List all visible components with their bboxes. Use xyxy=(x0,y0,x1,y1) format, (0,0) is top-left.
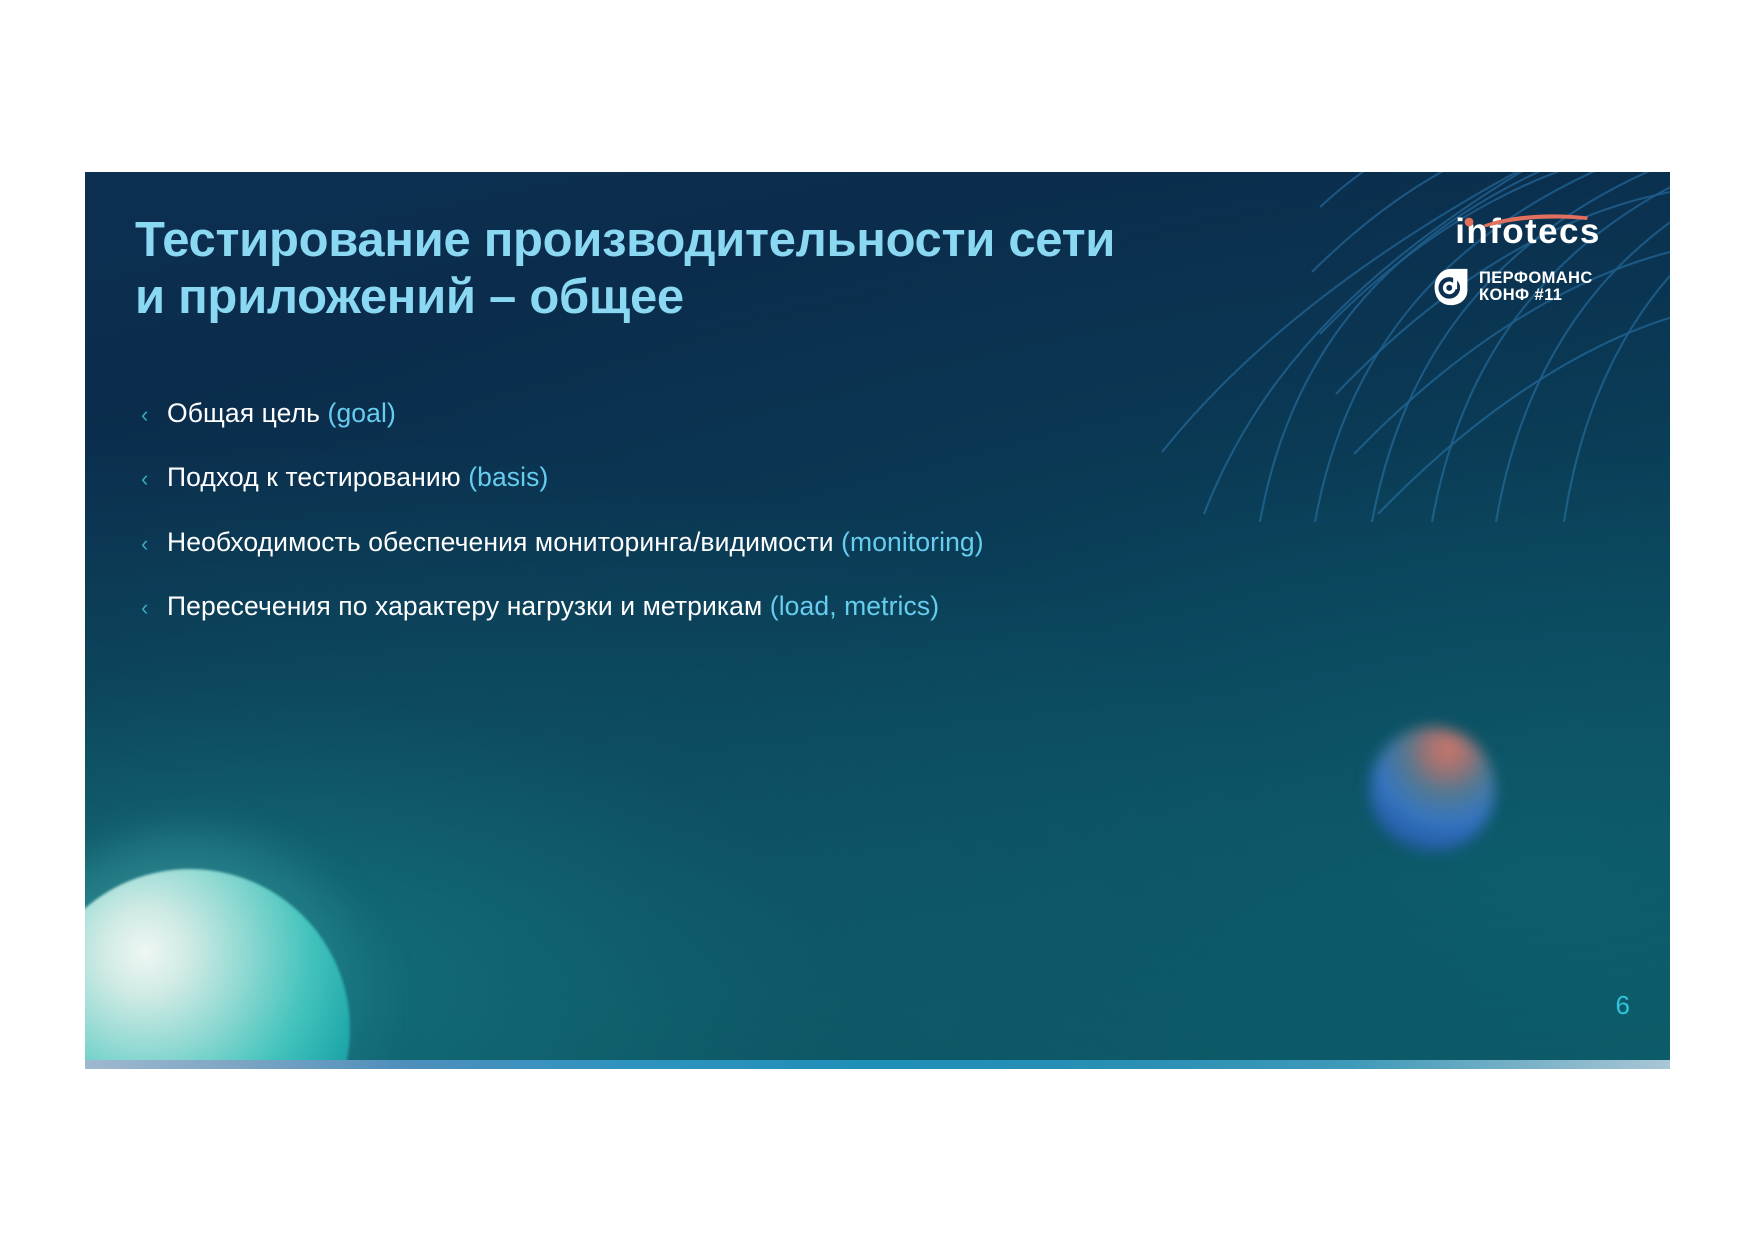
list-item: ‹ Подход к тестированию (basis) xyxy=(137,461,1437,493)
bullet-text-en: (goal) xyxy=(328,398,396,428)
bullet-text-en: (basis) xyxy=(468,462,548,492)
list-item: ‹ Общая цель (goal) xyxy=(137,397,1437,429)
page-title: Тестирование производительности сети и п… xyxy=(135,212,1195,327)
decorative-sphere-blue xyxy=(1370,727,1495,852)
conf-line-2: КОНФ #11 xyxy=(1479,287,1593,304)
list-item: ‹ Пересечения по характеру нагрузки и ме… xyxy=(137,590,1437,622)
performance-conf-mark-icon xyxy=(1432,268,1470,306)
list-item: ‹ Необходимость обеспечения мониторинга/… xyxy=(137,526,1437,558)
title-line-1: Тестирование производительности сети xyxy=(135,212,1195,269)
bottom-accent-bar xyxy=(85,1060,1670,1069)
chevron-left-icon: ‹ xyxy=(137,468,167,490)
bullet-list: ‹ Общая цель (goal) ‹ Подход к тестирова… xyxy=(137,397,1437,654)
chevron-left-icon: ‹ xyxy=(137,404,167,426)
bullet-text-ru: Общая цель xyxy=(167,398,328,428)
performance-conf-text: ПЕРФОМАНС КОНФ #11 xyxy=(1479,270,1593,304)
bullet-text-ru: Необходимость обеспечения мониторинга/ви… xyxy=(167,527,841,557)
bullet-text: Пересечения по характеру нагрузки и метр… xyxy=(167,590,939,622)
bullet-text-en: (monitoring) xyxy=(841,527,984,557)
page-number: 6 xyxy=(1616,990,1630,1021)
conf-line-1: ПЕРФОМАНС xyxy=(1479,270,1593,287)
bullet-text: Необходимость обеспечения мониторинга/ви… xyxy=(167,526,984,558)
infotecs-logo: infotecs xyxy=(1428,206,1628,258)
bullet-text-en: (load, metrics) xyxy=(770,591,939,621)
infotecs-wordmark: infotecs xyxy=(1428,206,1628,258)
chevron-left-icon: ‹ xyxy=(137,533,167,555)
bullet-text: Подход к тестированию (basis) xyxy=(167,461,548,493)
bullet-text-ru: Пересечения по характеру нагрузки и метр… xyxy=(167,591,770,621)
chevron-left-icon: ‹ xyxy=(137,597,167,619)
bullet-text: Общая цель (goal) xyxy=(167,397,396,429)
bullet-text-ru: Подход к тестированию xyxy=(167,462,468,492)
slide-canvas: Тестирование производительности сети и п… xyxy=(85,172,1670,1069)
title-line-2: и приложений – общее xyxy=(135,269,1195,326)
performance-conf-logo: ПЕРФОМАНС КОНФ #11 xyxy=(1428,268,1628,306)
branding-block: infotecs ПЕРФОМАНС КОНФ #11 xyxy=(1428,206,1628,306)
